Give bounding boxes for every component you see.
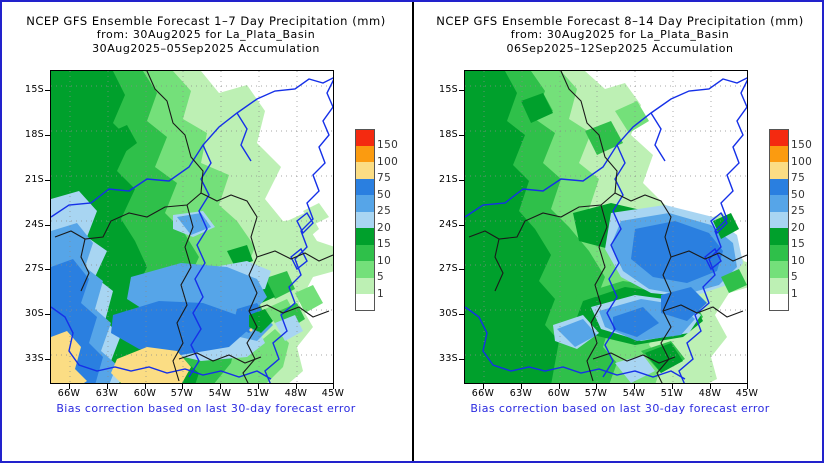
x-tick-label: 66W bbox=[463, 388, 503, 399]
x-tick-label: 48W bbox=[690, 388, 730, 399]
y-tick-mark bbox=[459, 225, 464, 226]
y-tick-label: 33S bbox=[4, 353, 44, 364]
colorbar-label: 20 bbox=[791, 220, 824, 237]
y-tick-mark bbox=[45, 135, 50, 136]
x-tick-label: 57W bbox=[162, 388, 202, 399]
x-tick-label: 54W bbox=[614, 388, 654, 399]
colorbar-swatch-5 bbox=[769, 261, 789, 278]
colorbar-label: 10 bbox=[791, 253, 824, 270]
x-tick-mark bbox=[596, 384, 597, 389]
bias-correction-caption: Bias correction based on last 30-day for… bbox=[416, 402, 824, 415]
colorbar-label: 20 bbox=[377, 220, 411, 237]
x-tick-mark bbox=[296, 384, 297, 389]
y-tick-label: 21S bbox=[418, 174, 458, 185]
colorbar-swatch-1 bbox=[355, 278, 375, 295]
x-tick-mark bbox=[710, 384, 711, 389]
x-tick-label: 48W bbox=[276, 388, 316, 399]
y-tick-label: 18S bbox=[418, 129, 458, 140]
panel-title-line3: 30Aug2025–05Sep2025 Accumulation bbox=[2, 42, 410, 56]
y-tick-label: 24S bbox=[4, 219, 44, 230]
colorbar-label: 50 bbox=[377, 187, 411, 204]
colorbar-label: 25 bbox=[377, 203, 411, 220]
figure-root: NCEP GFS Ensemble Forecast 1–7 Day Preci… bbox=[0, 0, 824, 463]
colorbar-label: 1 bbox=[377, 286, 411, 303]
x-tick-label: 63W bbox=[501, 388, 541, 399]
x-tick-mark bbox=[107, 384, 108, 389]
colorbar-swatch-50 bbox=[769, 179, 789, 196]
colorbar-label: 15 bbox=[377, 236, 411, 253]
panel-title-block: NCEP GFS Ensemble Forecast 1–7 Day Preci… bbox=[2, 14, 410, 56]
colorbar-1-7-day bbox=[355, 129, 375, 311]
y-tick-mark bbox=[45, 269, 50, 270]
colorbar-label: 15 bbox=[791, 236, 824, 253]
x-tick-mark bbox=[521, 384, 522, 389]
colorbar-label: 100 bbox=[377, 154, 411, 171]
x-tick-label: 51W bbox=[238, 388, 278, 399]
x-tick-mark bbox=[182, 384, 183, 389]
colorbar-swatch-75 bbox=[769, 162, 789, 179]
colorbar-label: 5 bbox=[791, 269, 824, 286]
colorbar-labels-8-14-day: 150 100 75 50 25 20 15 10 5 1 bbox=[791, 129, 824, 302]
x-tick-label: 60W bbox=[125, 388, 165, 399]
y-tick-mark bbox=[45, 314, 50, 315]
colorbar-label: 150 bbox=[791, 137, 824, 154]
y-tick-label: 21S bbox=[4, 174, 44, 185]
y-tick-mark bbox=[45, 180, 50, 181]
y-tick-label: 27S bbox=[418, 263, 458, 274]
x-tick-label: 45W bbox=[313, 388, 353, 399]
colorbar-swatch-25 bbox=[355, 195, 375, 212]
panel-title-line1: NCEP GFS Ensemble Forecast 8–14 Day Prec… bbox=[416, 14, 824, 28]
colorbar-label: 100 bbox=[791, 154, 824, 171]
colorbar-label: 5 bbox=[377, 269, 411, 286]
y-tick-label: 27S bbox=[4, 263, 44, 274]
forecast-panel-1-7-day: NCEP GFS Ensemble Forecast 1–7 Day Preci… bbox=[2, 2, 412, 461]
panel-title-line1: NCEP GFS Ensemble Forecast 1–7 Day Preci… bbox=[2, 14, 410, 28]
colorbar-swatch-10 bbox=[355, 245, 375, 262]
x-tick-mark bbox=[559, 384, 560, 389]
colorbar-swatch-20 bbox=[769, 212, 789, 229]
x-tick-mark bbox=[333, 384, 334, 389]
panel-title-block: NCEP GFS Ensemble Forecast 8–14 Day Prec… bbox=[416, 14, 824, 56]
colorbar-swatch-0 bbox=[769, 294, 789, 311]
colorbar-swatch-15 bbox=[769, 228, 789, 245]
colorbar-swatch-75 bbox=[355, 162, 375, 179]
colorbar-swatch-100 bbox=[355, 146, 375, 163]
colorbar-swatch-25 bbox=[769, 195, 789, 212]
y-tick-label: 24S bbox=[418, 219, 458, 230]
x-tick-label: 45W bbox=[727, 388, 767, 399]
colorbar-swatch-50 bbox=[355, 179, 375, 196]
x-tick-mark bbox=[634, 384, 635, 389]
panel-title-line2: from: 30Aug2025 for La_Plata_Basin bbox=[2, 28, 410, 42]
y-tick-mark bbox=[459, 269, 464, 270]
x-tick-label: 54W bbox=[200, 388, 240, 399]
precipitation-contour-field bbox=[51, 71, 334, 384]
x-tick-label: 60W bbox=[539, 388, 579, 399]
colorbar-swatch-15 bbox=[355, 228, 375, 245]
colorbar-label: 25 bbox=[791, 203, 824, 220]
x-tick-label: 57W bbox=[576, 388, 616, 399]
colorbar-swatch-20 bbox=[355, 212, 375, 229]
y-tick-mark bbox=[459, 180, 464, 181]
y-tick-label: 15S bbox=[4, 84, 44, 95]
panel-container: NCEP GFS Ensemble Forecast 1–7 Day Preci… bbox=[2, 2, 822, 461]
colorbar-label: 150 bbox=[377, 137, 411, 154]
y-tick-mark bbox=[45, 225, 50, 226]
y-tick-mark bbox=[45, 90, 50, 91]
x-tick-label: 66W bbox=[49, 388, 89, 399]
y-tick-mark bbox=[45, 359, 50, 360]
colorbar-swatch-150 bbox=[355, 129, 375, 146]
y-tick-label: 30S bbox=[4, 308, 44, 319]
x-tick-mark bbox=[220, 384, 221, 389]
panel-title-line3: 06Sep2025–12Sep2025 Accumulation bbox=[416, 42, 824, 56]
colorbar-label: 10 bbox=[377, 253, 411, 270]
precipitation-map-8-14-day bbox=[464, 70, 748, 384]
colorbar-label: 1 bbox=[791, 286, 824, 303]
x-tick-mark bbox=[483, 384, 484, 389]
colorbar-swatch-0 bbox=[355, 294, 375, 311]
colorbar-swatch-10 bbox=[769, 245, 789, 262]
y-tick-mark bbox=[459, 359, 464, 360]
x-tick-mark bbox=[69, 384, 70, 389]
colorbar-8-14-day bbox=[769, 129, 789, 311]
x-tick-label: 51W bbox=[652, 388, 692, 399]
y-tick-label: 33S bbox=[418, 353, 458, 364]
forecast-panel-8-14-day: NCEP GFS Ensemble Forecast 8–14 Day Prec… bbox=[412, 2, 822, 461]
panel-title-line2: from: 30Aug2025 for La_Plata_Basin bbox=[416, 28, 824, 42]
colorbar-swatch-150 bbox=[769, 129, 789, 146]
colorbar-label: 75 bbox=[791, 170, 824, 187]
y-tick-label: 30S bbox=[418, 308, 458, 319]
y-tick-mark bbox=[459, 135, 464, 136]
y-tick-label: 18S bbox=[4, 129, 44, 140]
y-tick-label: 15S bbox=[418, 84, 458, 95]
colorbar-swatch-5 bbox=[355, 261, 375, 278]
colorbar-label: 50 bbox=[791, 187, 824, 204]
precipitation-map-1-7-day bbox=[50, 70, 334, 384]
colorbar-swatch-100 bbox=[769, 146, 789, 163]
colorbar-swatch-1 bbox=[769, 278, 789, 295]
x-tick-label: 63W bbox=[87, 388, 127, 399]
y-tick-mark bbox=[459, 90, 464, 91]
precipitation-contour-field bbox=[465, 71, 748, 384]
x-tick-mark bbox=[258, 384, 259, 389]
x-tick-mark bbox=[145, 384, 146, 389]
colorbar-labels-1-7-day: 150 100 75 50 25 20 15 10 5 1 bbox=[377, 129, 411, 302]
colorbar-label: 75 bbox=[377, 170, 411, 187]
x-tick-mark bbox=[672, 384, 673, 389]
bias-correction-caption: Bias correction based on last 30-day for… bbox=[2, 402, 410, 415]
y-tick-mark bbox=[459, 314, 464, 315]
x-tick-mark bbox=[747, 384, 748, 389]
